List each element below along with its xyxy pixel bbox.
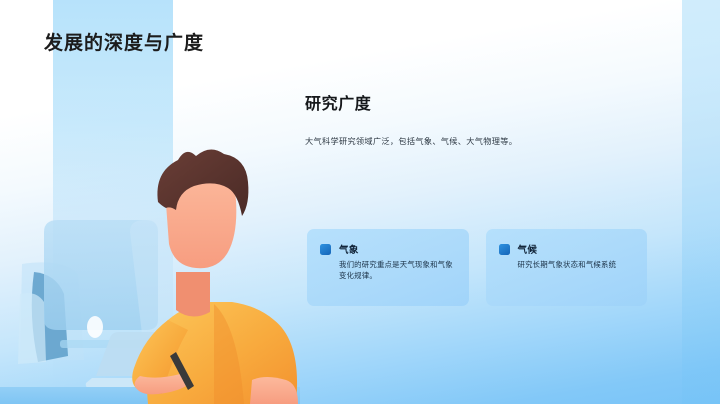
square-bullet-icon	[499, 244, 510, 255]
card-body: 我们的研究重点是天气现象和气象变化规律。	[320, 259, 455, 282]
content-block: 研究广度 大气科学研究领域广泛，包括气象、气候、大气物理等。	[305, 90, 650, 148]
monitor-highlight	[87, 316, 103, 338]
chair-base	[18, 293, 46, 364]
card-header: 气象	[320, 242, 455, 256]
decorative-band-right	[682, 0, 720, 404]
content-heading: 研究广度	[305, 90, 650, 114]
neck	[176, 272, 210, 317]
slide-canvas: 发展的深度与广度 研究广度 大气科学研究领域广泛，包括气象、气候、大气物理等。 …	[0, 0, 720, 404]
card-title: 气候	[518, 242, 538, 256]
content-subtitle: 大气科学研究领域广泛，包括气象、气候、大气物理等。	[305, 136, 650, 148]
person-at-desk-illustration	[0, 144, 300, 404]
card-body: 研究长期气象状态和气候系统	[499, 259, 634, 270]
card-list: 气象 我们的研究重点是天气现象和气象变化规律。 气候 研究长期气象状态和气候系统	[307, 229, 647, 306]
card-title: 气象	[339, 242, 359, 256]
card-meteorology[interactable]: 气象 我们的研究重点是天气现象和气象变化规律。	[307, 229, 469, 306]
card-header: 气候	[499, 242, 634, 256]
card-climate[interactable]: 气候 研究长期气象状态和气候系统	[486, 229, 648, 306]
page-title: 发展的深度与广度	[44, 28, 204, 55]
square-bullet-icon	[320, 244, 331, 255]
